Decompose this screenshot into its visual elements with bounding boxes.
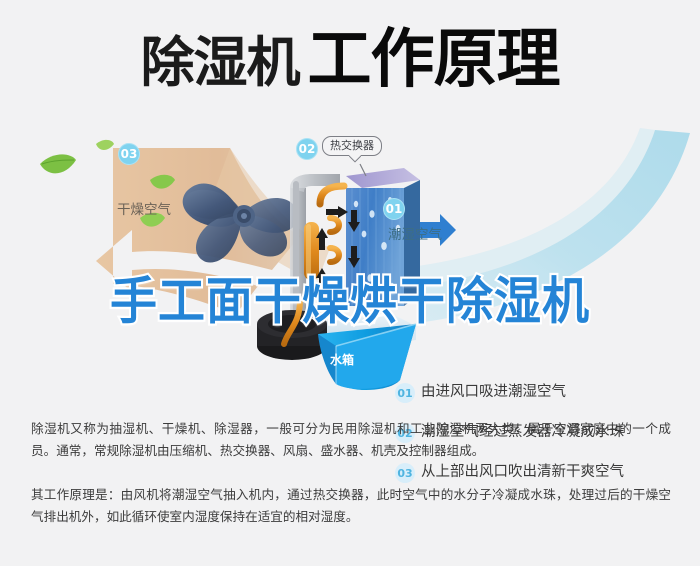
step-number: 01 [395, 383, 415, 403]
infographic-page: 除湿机工作原理 [0, 0, 700, 566]
list-item: 03 从上部出风口吹出清新干爽空气 [395, 462, 695, 483]
title-large-text: 工作原理 [308, 23, 560, 97]
label-water-tank: 水箱 [330, 351, 354, 368]
badge-01-humid-air: 01 [383, 198, 405, 220]
step-label: 由进风口吸进潮湿空气 [421, 382, 566, 402]
body-paragraph-2: 其工作原理是：由风机将潮湿空气抽入机内，通过热交换器，此时空气中的水分子冷凝成水… [31, 484, 671, 528]
list-item: 01 由进风口吸进潮湿空气 [395, 382, 695, 403]
callout-tail-icon [349, 155, 361, 167]
badge-02-heat-exchanger: 02 [296, 138, 318, 160]
title-small-text: 除湿机 [141, 31, 300, 94]
badge-03-dry-air: 03 [118, 143, 140, 165]
step-number: 03 [395, 463, 415, 483]
dehumidifier-diagram: 03 02 01 热交换器 干燥空气 潮湿空气 水箱 01 由进风口吸进潮湿空气… [0, 118, 700, 393]
page-title: 除湿机工作原理 [0, 28, 700, 92]
heat-exchanger-callout: 热交换器 [322, 136, 382, 156]
body-paragraph-1: 除湿机又称为抽湿机、干燥机、除湿器，一般可分为民用除湿机和工业除湿机两大类，属于… [31, 418, 671, 462]
heat-exchanger-callout-label: 热交换器 [330, 139, 374, 152]
label-humid-air: 潮湿空气 [388, 223, 442, 243]
label-dry-air: 干燥空气 [117, 198, 171, 218]
step-label: 从上部出风口吹出清新干爽空气 [421, 462, 624, 482]
